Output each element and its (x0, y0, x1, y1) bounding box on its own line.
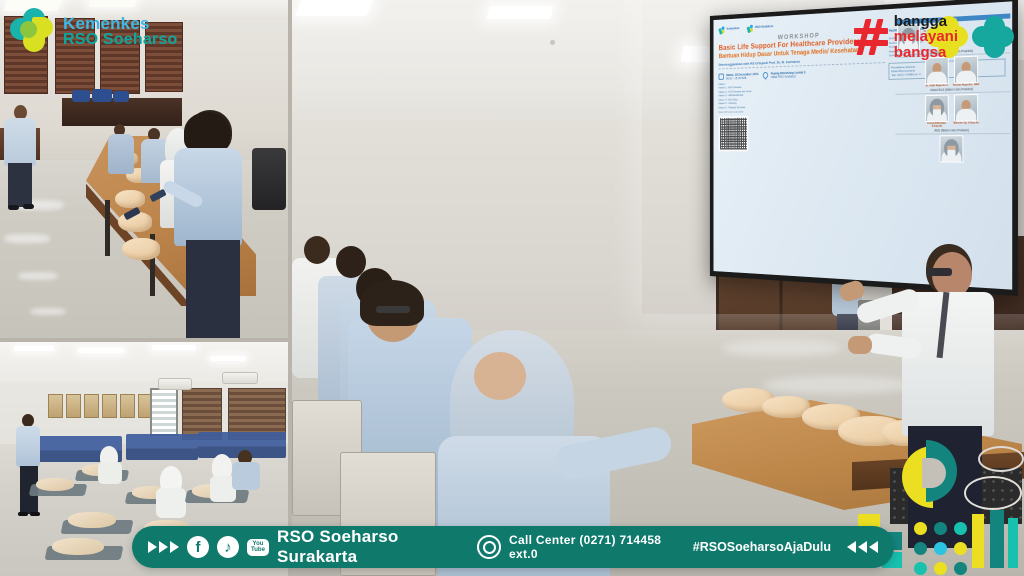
slide-time: 08.00 - 15.00 WIB (726, 76, 746, 80)
arrows-right-icon (148, 541, 179, 553)
speaker-card: dr. Sidik Nugroho A (923, 56, 950, 87)
ceiling-light-icon (14, 346, 54, 351)
ceiling-light-icon (88, 0, 138, 7)
speaker-name: Wibowo Aji, S.Kep.Ns (952, 121, 980, 124)
deco-bar (990, 510, 1004, 568)
slide-logo-kemenkes-label: Kemenkes (727, 27, 740, 31)
air-conditioner (222, 372, 258, 384)
ceiling-light-icon (295, 0, 373, 16)
cpr-manikin (68, 512, 116, 528)
bangga-melayani-bangsa-logo: bangga melayani bangsa (854, 14, 958, 60)
ceiling-light-icon (152, 345, 196, 350)
facebook-icon[interactable]: f (187, 536, 209, 558)
deco-dot (954, 542, 967, 555)
equipment-bag (72, 90, 90, 102)
speaker-photo (940, 135, 964, 162)
slide-left-column: WORKSHOP Basic Life Support For Healthca… (719, 29, 886, 275)
slide-agenda: Materi : Materi 1 : BLS Dewasa Materi 2 … (719, 77, 886, 110)
ceiling-light-icon (78, 348, 124, 353)
call-center-icon (477, 535, 501, 559)
air-conditioner (158, 378, 192, 390)
ceiling-light-icon (210, 356, 246, 361)
slide-logo-rso: RSO Soeharso (747, 23, 773, 33)
ceiling-light-icon (486, 6, 553, 19)
wall-art (120, 394, 135, 418)
c-logo-icon (902, 440, 964, 512)
slide-venue-block: Ruang Workshop Lantai 3 Diklat RSO Soeha… (763, 70, 805, 79)
deco-dot (914, 542, 927, 555)
tiktok-icon[interactable]: ♪ (217, 536, 239, 558)
deco-bar (972, 514, 984, 568)
org-name: RSO Soeharso Surakarta (277, 527, 469, 567)
deco-dot (954, 562, 967, 575)
equipment-bag (113, 91, 129, 102)
registration-qr-code[interactable] (719, 116, 749, 151)
kemenkes-label-line2: RSO Soeharso (63, 32, 177, 48)
kemenkes-label-line1: Kemenkes (63, 15, 177, 32)
wall-art (48, 394, 63, 418)
slide-date-block: Sabtu, 28 Desember 2024 08.00 - 15.00 WI… (719, 72, 759, 80)
infant-manikin (115, 190, 145, 208)
speaker-card: Wibowo Aji, S.Kep.Ns (952, 93, 980, 127)
speaker-group: Infant BLS (Materi dan Praktek) Ismaa Ra… (895, 86, 1010, 128)
location-pin-icon (762, 70, 770, 79)
slide-venue-sub: Diklat RSO Soeharso (771, 74, 796, 78)
wall-art (84, 394, 99, 418)
deco-dot (954, 522, 967, 535)
deco-dot (934, 562, 947, 575)
deco-dot (934, 522, 947, 535)
speaker-card (938, 135, 965, 162)
equipment-bag (92, 89, 112, 102)
slide-logo-kemenkes: Kemenkes (719, 25, 740, 34)
speaker-card: Ismaa Rahmatul, S.Kep.Ns (923, 94, 950, 128)
infant-manikin (122, 238, 160, 260)
smoke-detector (550, 40, 555, 45)
deco-bar (1008, 518, 1018, 568)
speaker-name: Ismaa Rahmatul, S.Kep.Ns (923, 122, 950, 128)
bangga-line1: bangga (894, 14, 958, 29)
hashtag-text: #RSOSoeharsoAjaDulu (693, 540, 831, 554)
bangga-line2: melayani (894, 29, 958, 44)
poster-canvas: Kemenkes RSO Soeharso (0, 0, 1024, 576)
table-leg (105, 200, 110, 256)
eyeglasses-icon (926, 268, 952, 276)
window (150, 388, 178, 436)
stacked-chairs (126, 434, 198, 460)
chair (252, 148, 286, 210)
kemenkes-flower-icon (719, 26, 726, 34)
call-center-text: Call Center (0271) 714458 ext.0 (509, 533, 681, 561)
wall-art (102, 394, 117, 418)
deco-dot (914, 522, 927, 535)
slide-logo-rso-label: RSO Soeharso (755, 25, 773, 29)
back-table (62, 98, 182, 126)
deco-dot (934, 542, 947, 555)
footer-banner: f ♪ You Tube RSO Soeharso Surakarta Call… (132, 526, 894, 568)
youtube-icon[interactable]: You Tube (247, 539, 269, 556)
hashtag-icon (854, 19, 888, 55)
speaker-photo (925, 94, 948, 121)
arrows-left-icon (847, 541, 878, 553)
flower-teal-icon (972, 16, 1016, 60)
kemenkes-flower-icon (10, 8, 56, 54)
kemenkes-logo: Kemenkes RSO Soeharso (10, 8, 177, 54)
deco-dot (914, 562, 927, 575)
qr-caption: Scan QR Code untuk Daftar (719, 108, 886, 113)
wall-art (66, 394, 81, 418)
eyeglasses-icon (376, 306, 410, 313)
speaker-group: AED (Materi dan Praktek) (895, 128, 1010, 162)
speaker-photo (954, 93, 978, 121)
bangga-line3: bangsa (894, 45, 958, 60)
rso-flower-icon (747, 24, 754, 32)
calendar-icon (719, 73, 724, 79)
cpr-manikin (52, 538, 104, 555)
youtube-label: You Tube (247, 541, 269, 553)
speaker-section-title: AED (Materi dan Praktek) (895, 128, 1010, 134)
cpr-manikin (36, 478, 74, 491)
